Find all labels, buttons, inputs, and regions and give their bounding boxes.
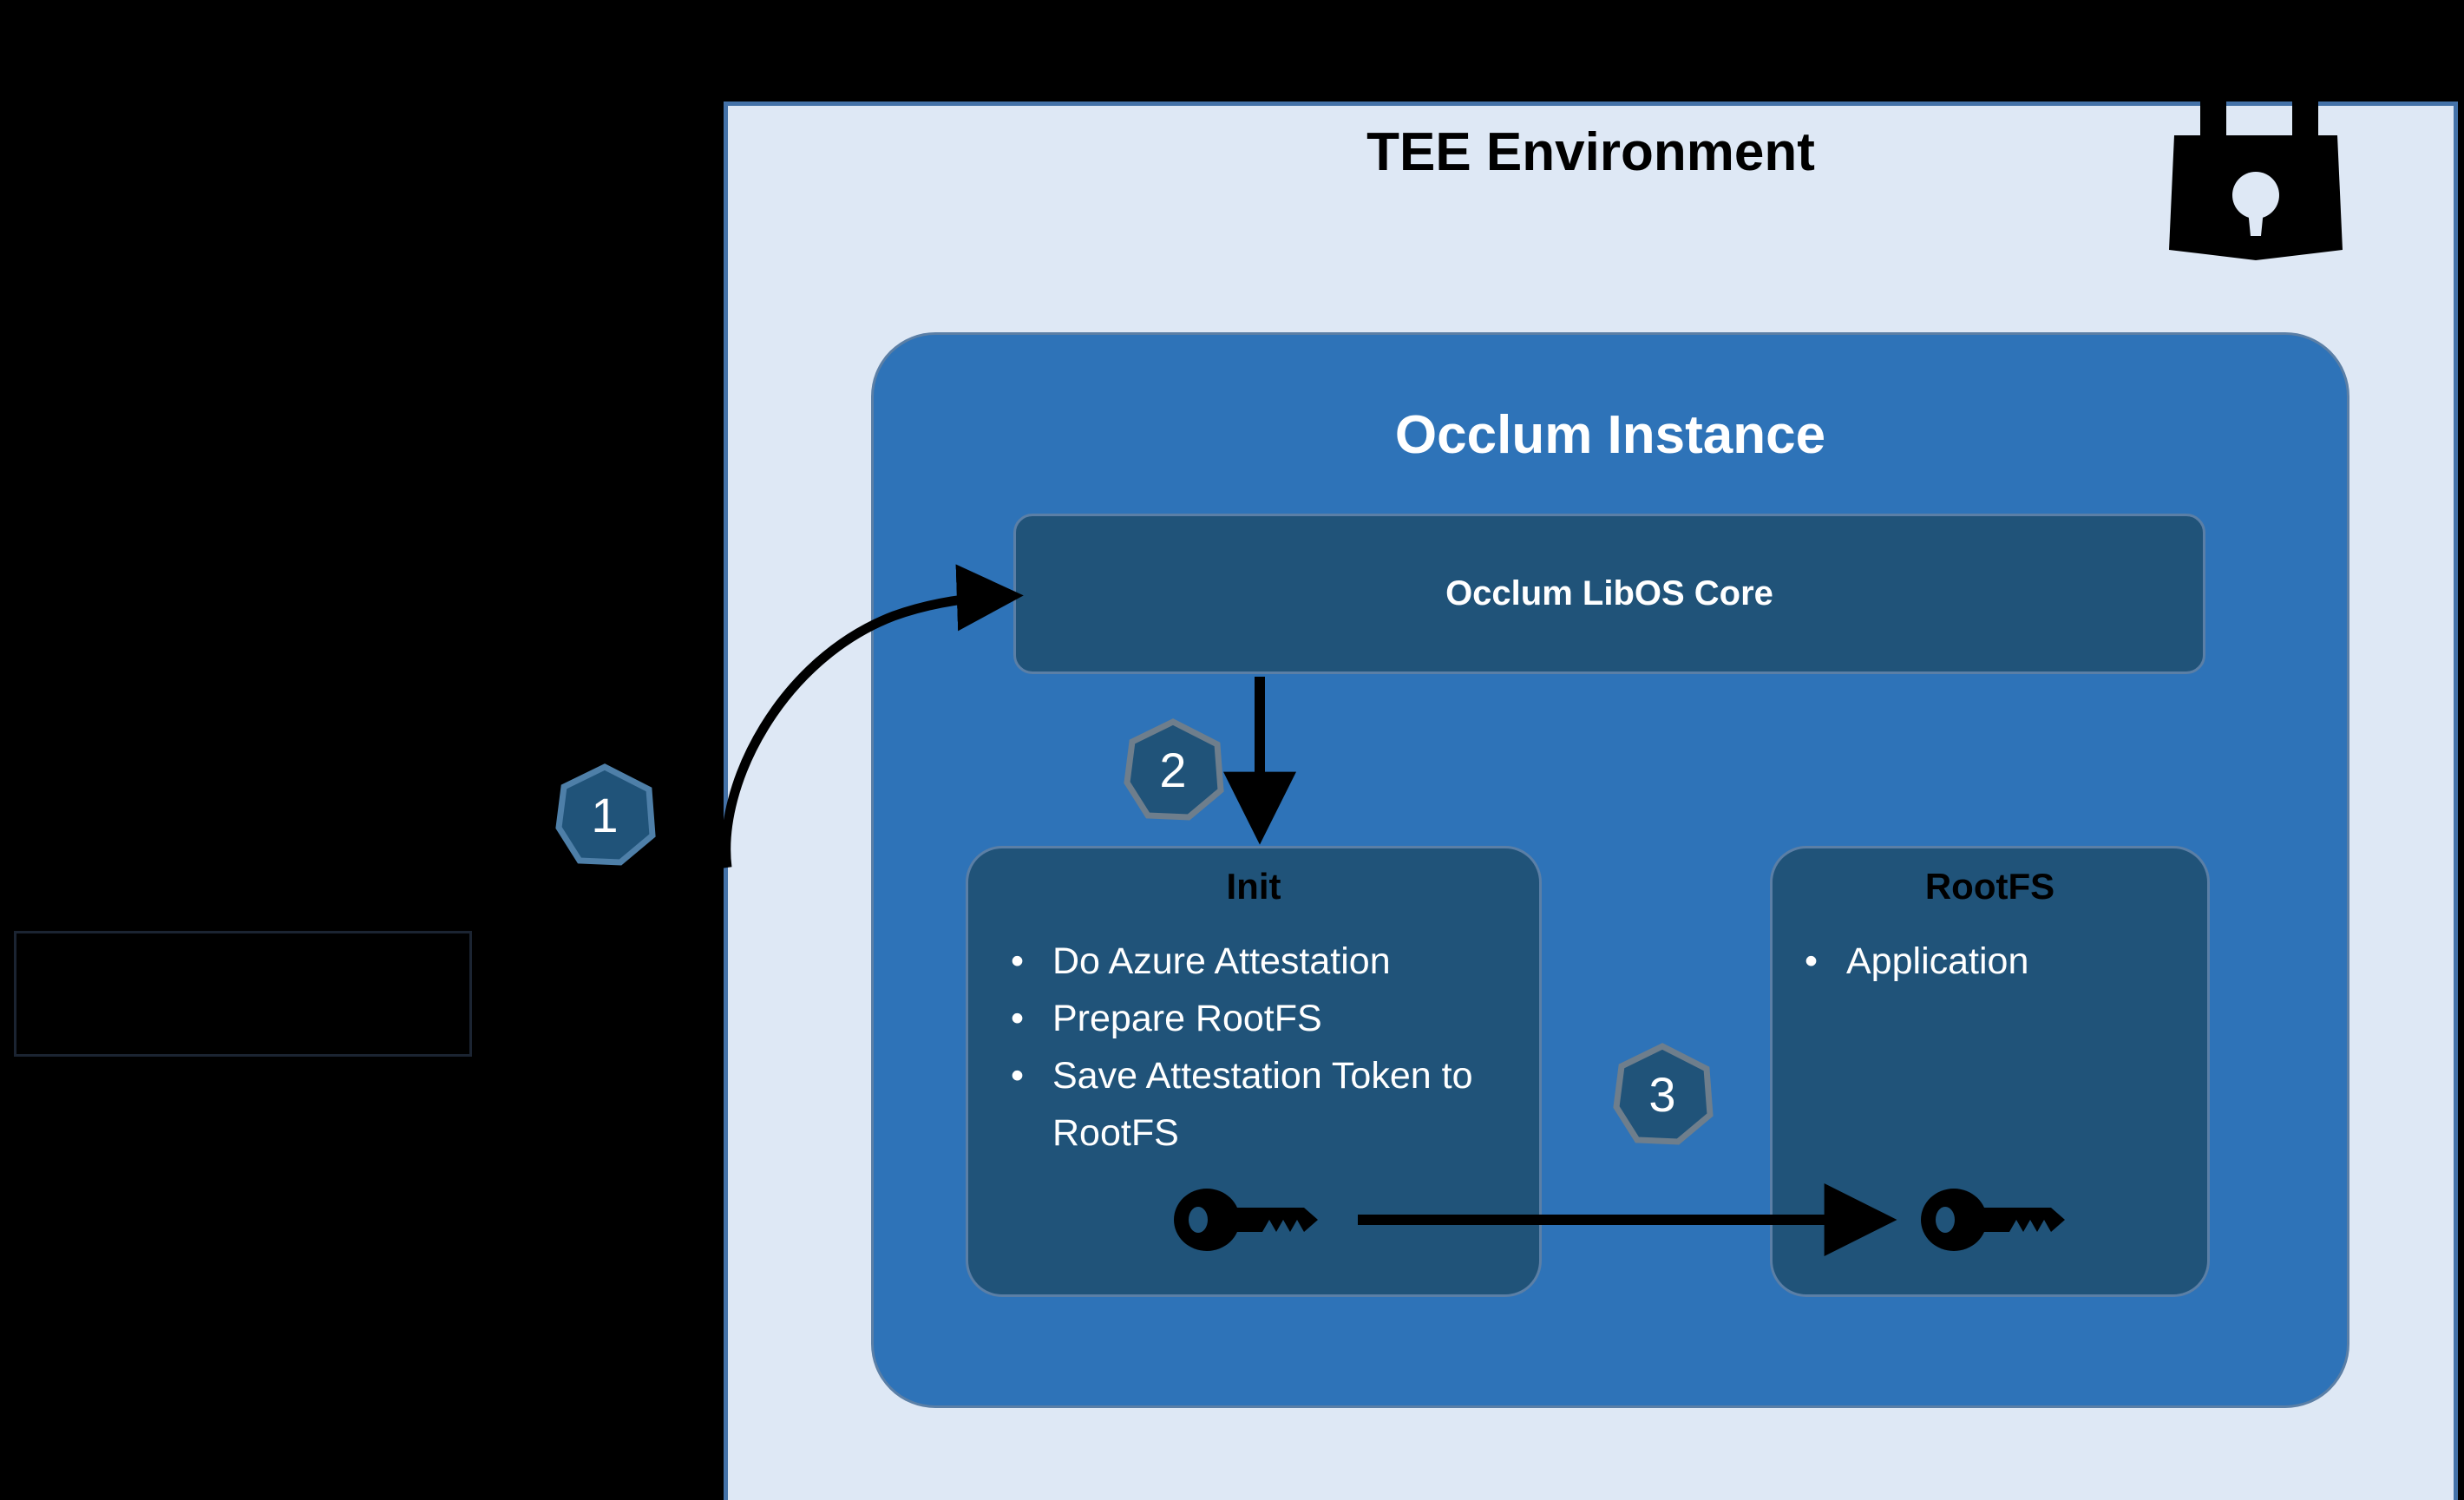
bullet-icon: • [1011,1047,1024,1104]
rootfs-bullet-list: •Application [1787,933,2195,990]
init-item-text: Prepare RootFS [1052,998,1322,1039]
key-icon [1921,1189,2077,1251]
step-badge-2-number: 2 [1122,718,1224,821]
step-badge-3-number: 3 [1611,1043,1714,1145]
padlock-icon [2160,52,2351,260]
occlum-libos-core-box: Occlum LibOS Core [1013,514,2205,674]
init-title: Init [966,866,1542,907]
list-item: •Application [1787,933,2195,990]
step-badge-3: 3 [1611,1043,1714,1145]
occlum-libos-core-label: Occlum LibOS Core [1445,574,1773,613]
step-badge-1: 1 [554,763,656,866]
diagram-canvas: TEE Environment Occlum Instance Occlum L… [0,0,2464,1500]
bullet-icon: • [1805,933,1818,990]
bullet-icon: • [1011,990,1024,1047]
init-item-text: Save Attestation Token to RootFS [1052,1055,1473,1154]
rootfs-title: RootFS [1770,866,2210,907]
occlum-instance-title: Occlum Instance [871,404,2349,466]
rootfs-item-text: Application [1846,940,2028,982]
init-item-text: Do Azure Attestation [1052,940,1391,982]
init-bullet-list: •Do Azure Attestation •Prepare RootFS •S… [993,933,1523,1162]
bullet-icon: • [1011,933,1024,990]
key-icon [1174,1189,1330,1251]
step-badge-1-number: 1 [554,763,656,866]
step-badge-2: 2 [1122,718,1224,821]
list-item: •Prepare RootFS [993,990,1523,1047]
list-item: •Do Azure Attestation [993,933,1523,990]
list-item: •Save Attestation Token to RootFS [993,1047,1523,1162]
empty-outlined-box [14,931,472,1057]
